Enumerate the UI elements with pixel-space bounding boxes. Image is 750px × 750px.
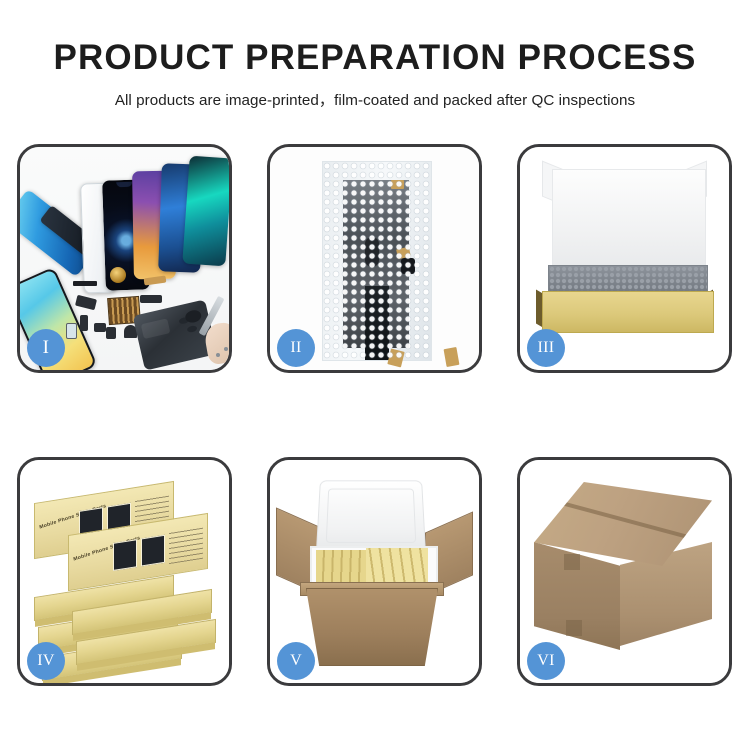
part-flex-cable-1 [75, 295, 97, 311]
process-step-1: I [17, 144, 232, 373]
carton-flap-tab-2 [566, 620, 582, 636]
part-flex-cable-4 [140, 295, 162, 303]
bubble-wrap-bag [322, 161, 432, 361]
part-camera-module [66, 323, 77, 339]
step-badge-2: II [277, 329, 315, 367]
process-step-5: V [267, 457, 482, 686]
part-gold-connector [144, 276, 167, 286]
process-step-2: II [267, 144, 482, 373]
header: PRODUCT PREPARATION PROCESS All products… [0, 0, 750, 110]
step-badge-6: VI [527, 642, 565, 680]
phone-screen-teal [182, 156, 229, 267]
lid2-spec-text-lines [169, 525, 203, 564]
part-vibration-motor [110, 267, 126, 283]
page-title: PRODUCT PREPARATION PROCESS [0, 0, 750, 77]
process-step-3: III [517, 144, 732, 373]
product-preparation-infographic: PRODUCT PREPARATION PROCESS All products… [0, 0, 750, 750]
process-step-grid: I II [17, 144, 733, 686]
part-flex-bar [73, 281, 97, 286]
part-screw-2 [224, 347, 228, 351]
step-badge-4: IV [27, 642, 65, 680]
part-flex-cable-2 [80, 315, 88, 331]
step-badge-3: III [527, 329, 565, 367]
step-badge-5: V [277, 642, 315, 680]
lid2-window-2 [141, 535, 165, 567]
part-flex-cable-3 [94, 323, 106, 332]
process-step-6: VI [517, 457, 732, 686]
page-subtitle: All products are image-printed，film-coat… [0, 77, 750, 110]
tape-piece-4 [444, 347, 460, 367]
lid2-window-1 [113, 539, 137, 571]
part-bracket [106, 327, 116, 339]
carton-flap-tab-1 [564, 554, 580, 570]
bubble-texture [323, 162, 431, 360]
kraft-box-front [542, 291, 714, 333]
step-badge-1: I [27, 329, 65, 367]
part-screw-1 [216, 353, 220, 357]
process-step-4: Mobile Phone Spare Parts Mobile Phone Sp… [17, 457, 232, 686]
foam-lid-white [316, 480, 426, 552]
box-lid-white [552, 169, 706, 279]
carton-front-panel [306, 588, 438, 666]
